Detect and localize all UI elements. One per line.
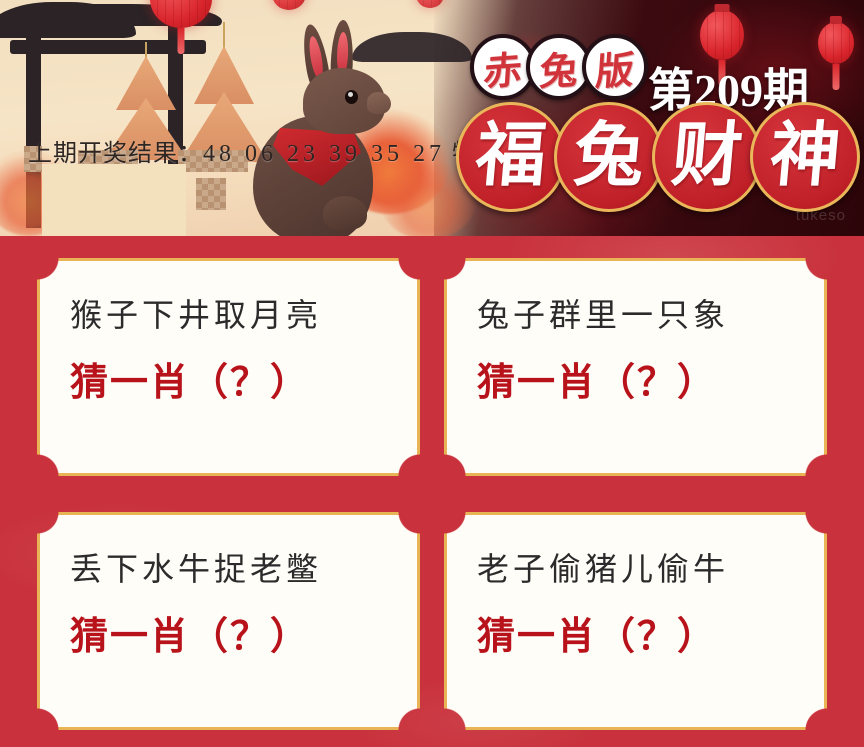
edition-char-1-label: 赤 — [482, 38, 524, 96]
riddle-card-2[interactable]: 兔子群里一只象 猜一肖（？） — [444, 258, 827, 476]
edition-badge: 赤 兔 版 — [470, 34, 638, 100]
last-draw-result: 上期开奖结果：48 06 23 39 35 27 特42 — [28, 133, 503, 168]
riddle-text: 猴子下井取月亮 — [70, 295, 417, 335]
edition-char-3: 版 — [582, 34, 648, 100]
riddle-card-3[interactable]: 丢下水牛捉老鳖 猜一肖（？） — [37, 512, 420, 730]
brand-title-badge: 福 兔 财 神 — [456, 102, 848, 212]
lottery-poster: 上期开奖结果：48 06 23 39 35 27 特42 赤 兔 版 第209期… — [0, 0, 864, 747]
watermark: tukeso — [796, 207, 846, 224]
red-lantern-icon — [272, 0, 306, 10]
brand-char-4: 神 — [750, 102, 860, 212]
title-block: 赤 兔 版 第209期 福 兔 财 神 tukeso — [452, 18, 852, 230]
riddle-answer: 猜一肖（？） — [477, 605, 824, 660]
brand-char-1-label: 福 — [473, 122, 549, 192]
brand-char-2-label: 兔 — [571, 122, 647, 192]
rabbit-illustration — [245, 28, 395, 236]
hero-banner: 上期开奖结果：48 06 23 39 35 27 特42 赤 兔 版 第209期… — [0, 0, 864, 236]
brand-char-3: 财 — [652, 102, 762, 212]
riddle-answer: 猜一肖（？） — [70, 605, 417, 660]
riddle-text: 丢下水牛捉老鳖 — [70, 549, 417, 589]
brand-char-3-label: 财 — [669, 122, 745, 192]
censored-block — [196, 178, 226, 210]
riddle-grid: 猴子下井取月亮 猜一肖（？） 兔子群里一只象 猜一肖（？） 丢下水牛捉老鳖 猜一… — [37, 258, 827, 730]
riddle-card-1[interactable]: 猴子下井取月亮 猜一肖（？） — [37, 258, 420, 476]
riddle-text: 老子偷猪儿偷牛 — [477, 549, 824, 589]
brand-char-1: 福 — [456, 102, 566, 212]
riddle-answer: 猜一肖（？） — [477, 351, 824, 406]
riddle-text: 兔子群里一只象 — [477, 295, 824, 335]
last-draw-label: 上期开奖结果： — [28, 141, 203, 167]
brand-char-4-label: 神 — [767, 122, 843, 192]
riddle-card-4[interactable]: 老子偷猪儿偷牛 猜一肖（？） — [444, 512, 827, 730]
edition-char-2-label: 兔 — [538, 38, 580, 96]
brand-char-2: 兔 — [554, 102, 664, 212]
censored-block — [42, 164, 186, 236]
riddle-answer: 猜一肖（？） — [70, 351, 417, 406]
edition-char-3-label: 版 — [594, 38, 636, 96]
riddle-panel: 猴子下井取月亮 猜一肖（？） 兔子群里一只象 猜一肖（？） 丢下水牛捉老鳖 猜一… — [0, 236, 864, 747]
last-draw-numbers: 48 06 23 39 35 27 — [203, 141, 445, 167]
